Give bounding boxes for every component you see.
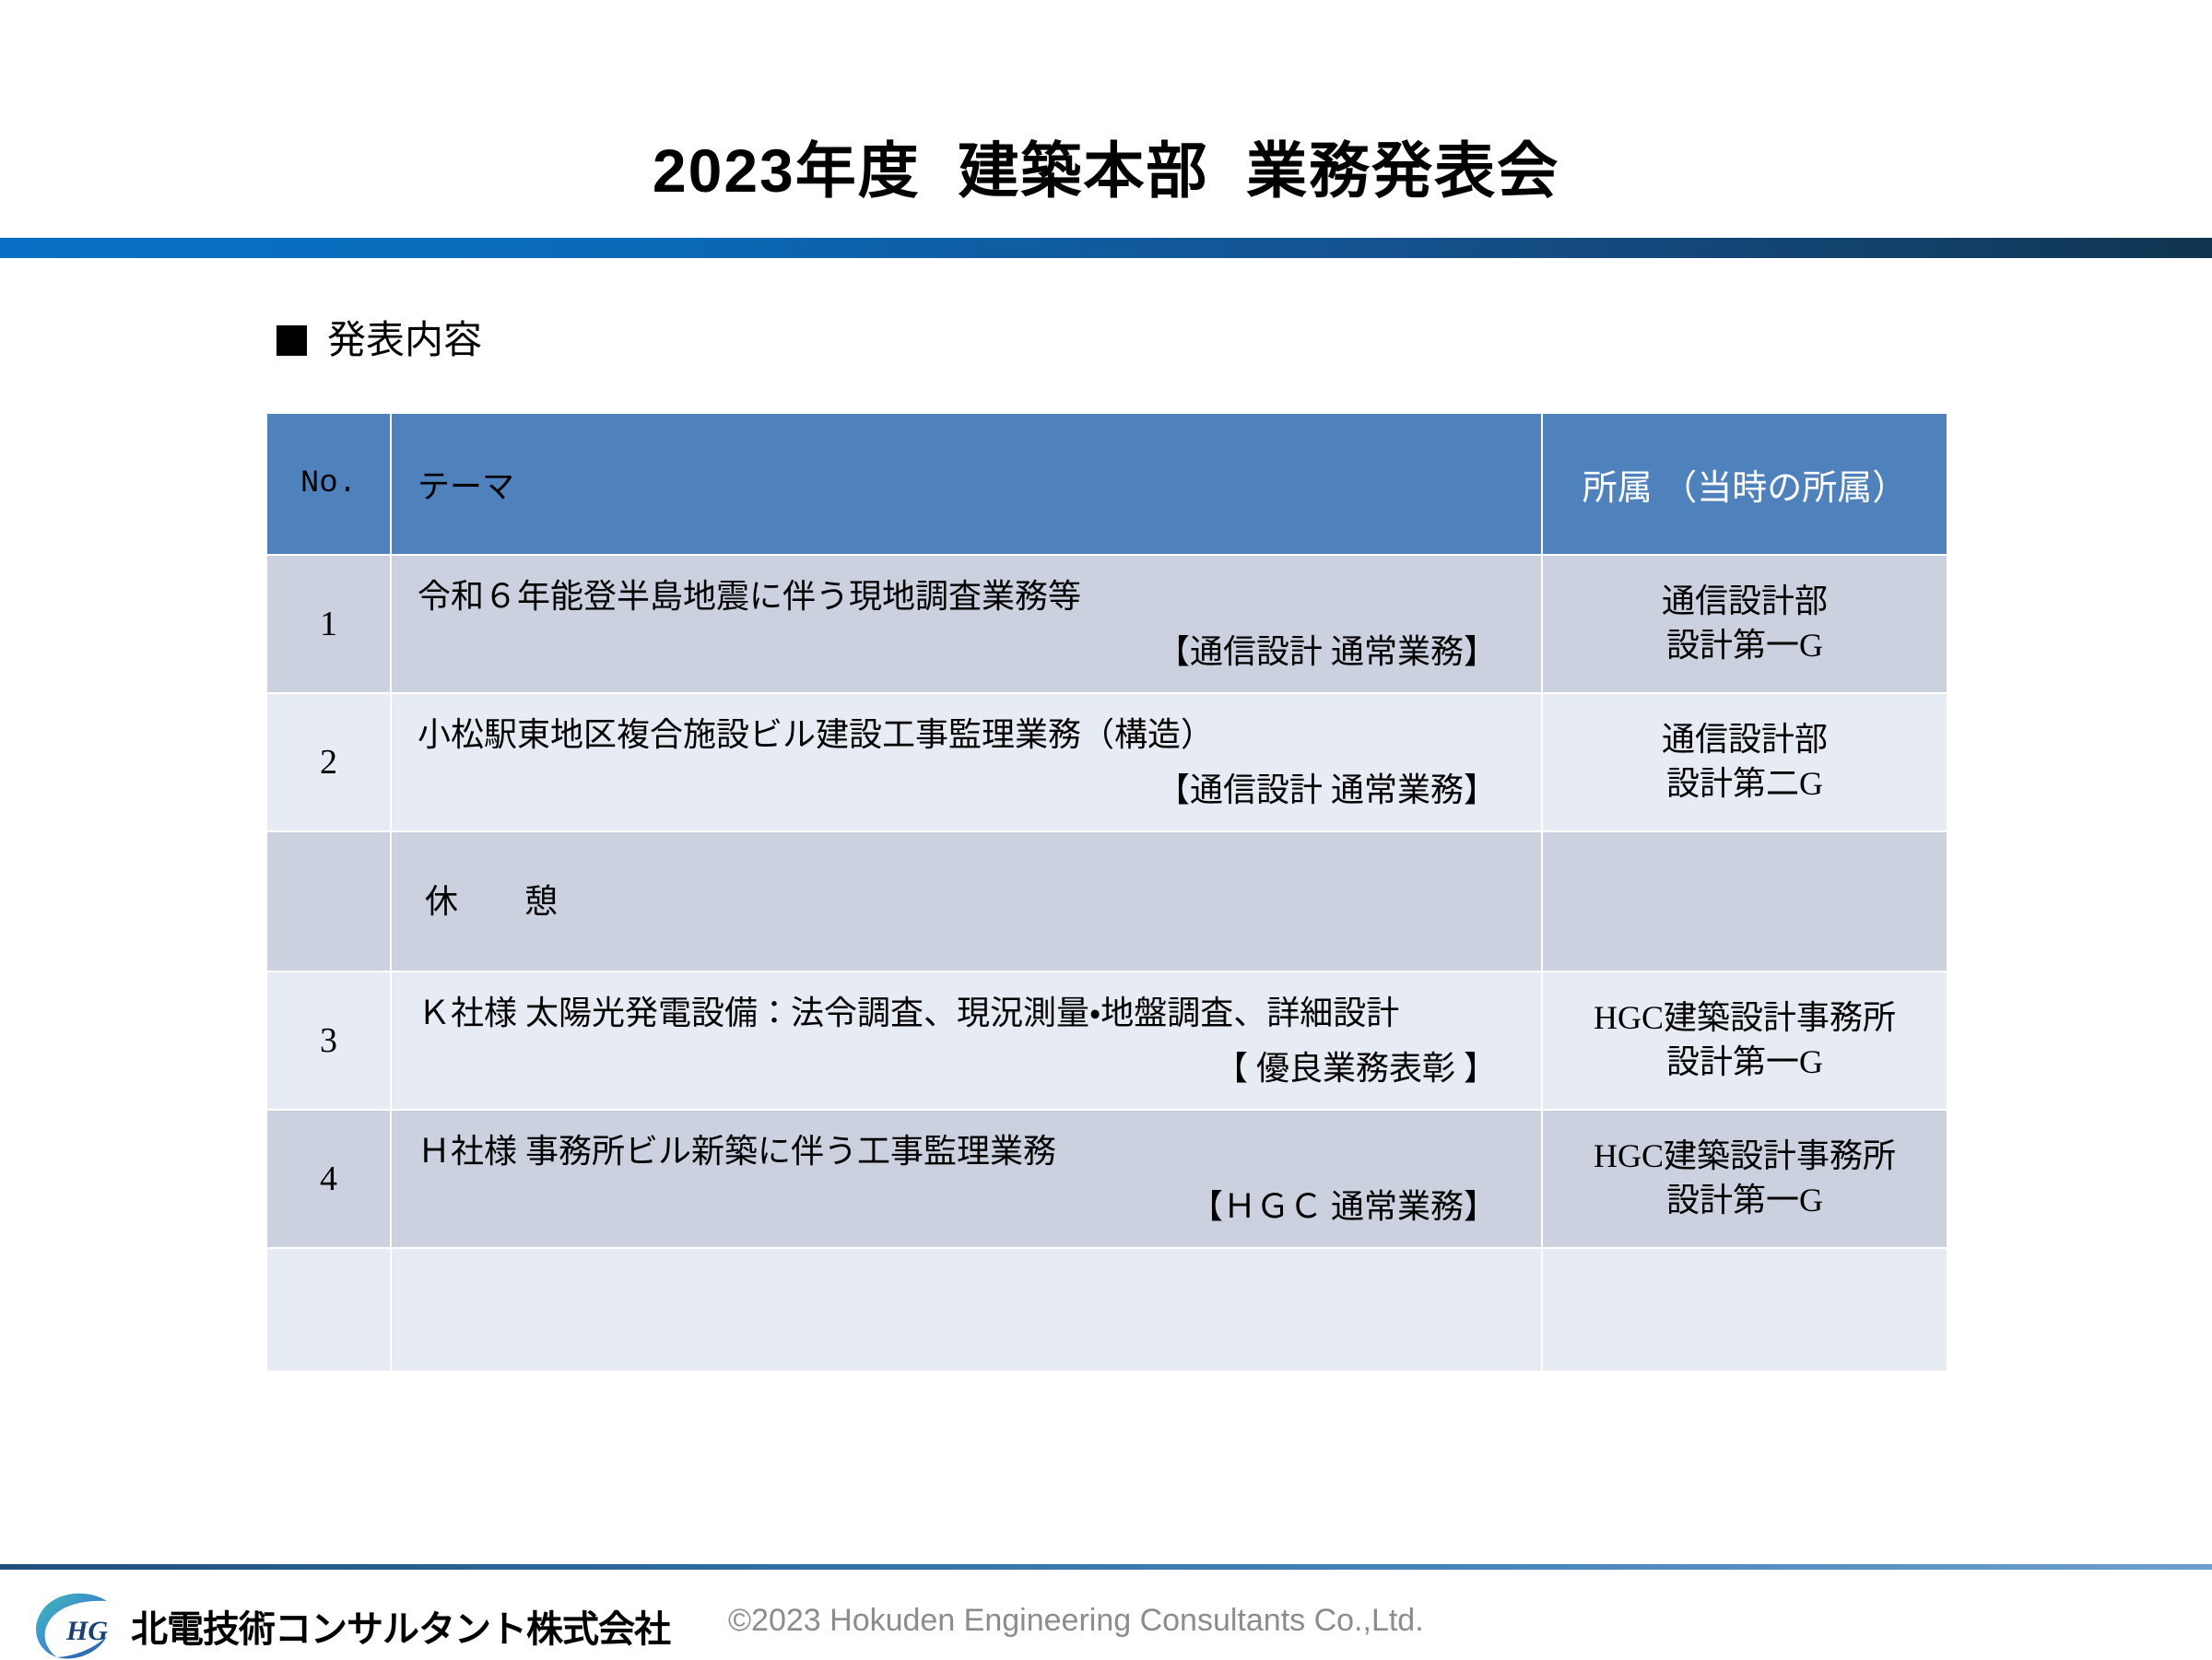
table-row-empty [266,1248,1947,1372]
column-header-no: No. [266,413,391,555]
theme-title: 小松駅東地区複合施設ビル建設工事監理業務（構造） [418,710,1517,759]
table-row: 4 Ｈ社様 事務所ビル新築に伴う工事監理業務 【ＨＧＣ 通常業務】 HGC建築設… [266,1110,1947,1248]
cell-department: HGC建築設計事務所 設計第一G [1542,1110,1947,1248]
cell-theme: 令和６年能登半島地震に伴う現地調査業務等 【通信設計 通常業務】 [391,555,1542,693]
theme-tag: 【通信設計 通常業務】 [418,765,1517,815]
cell-theme: Ｋ社様 太陽光発電設備：法令調査、現況測量・地盤調査、詳細設計 【 優良業務表彰… [391,971,1542,1110]
cell-no: 2 [266,693,391,831]
theme-title: Ｈ社様 事務所ビル新築に伴う工事監理業務 [418,1126,1517,1176]
cell-department [1542,1248,1947,1372]
square-bullet-icon [276,325,307,356]
cell-no: 4 [266,1110,391,1248]
cell-theme: Ｈ社様 事務所ビル新築に伴う工事監理業務 【ＨＧＣ 通常業務】 [391,1110,1542,1248]
cell-department: 通信設計部 設計第二G [1542,693,1947,831]
theme-tag: 【ＨＧＣ 通常業務】 [418,1182,1517,1231]
cell-department: 通信設計部 設計第一G [1542,555,1947,693]
cell-no [266,831,391,971]
table-row-break: 休 憩 [266,831,1947,971]
theme-title: Ｋ社様 太陽光発電設備：法令調査、現況測量・地盤調査、詳細設計 [418,988,1517,1038]
column-header-theme: テーマ [391,413,1542,555]
section-heading: 発表内容 [276,321,482,359]
theme-tag: 【 優良業務表彰 】 [418,1043,1517,1093]
table-row: 1 令和６年能登半島地震に伴う現地調査業務等 【通信設計 通常業務】 通信設計部… [266,555,1947,693]
hg-swoosh-logo-icon: HG [29,1592,118,1660]
cell-theme: 休 憩 [391,831,1542,971]
theme-title: 令和６年能登半島地震に伴う現地調査業務等 [418,571,1517,621]
page-title: 2023年度 建築本部 業務発表会 [0,122,2212,210]
cell-no [266,1248,391,1372]
footer: HG 北電技術コンサルタント株式会社 ©2023 Hokuden Enginee… [0,1570,2212,1659]
cell-theme [391,1248,1542,1372]
agenda-table: No. テーマ 所属 （当時の所属） 1 令和６年能登半島地震に伴う現地調査業務… [265,412,1948,1372]
copyright-text: ©2023 Hokuden Engineering Consultants Co… [728,1603,1424,1639]
cell-no: 1 [266,555,391,693]
logo-monogram-text: HG [65,1616,108,1646]
title-divider-bar [0,238,2212,258]
theme-tag: 【通信設計 通常業務】 [418,627,1517,677]
brand-block: HG 北電技術コンサルタント株式会社 [29,1592,670,1660]
cell-no: 3 [266,971,391,1110]
break-label: 休 憩 [418,877,1517,926]
table-row: 3 Ｋ社様 太陽光発電設備：法令調査、現況測量・地盤調査、詳細設計 【 優良業務… [266,971,1947,1110]
cell-department [1542,831,1947,971]
cell-department: HGC建築設計事務所 設計第一G [1542,971,1947,1110]
company-name: 北電技術コンサルタント株式会社 [131,1599,670,1653]
table-row: 2 小松駅東地区複合施設ビル建設工事監理業務（構造） 【通信設計 通常業務】 通… [266,693,1947,831]
section-heading-label: 発表内容 [327,321,482,359]
cell-theme: 小松駅東地区複合施設ビル建設工事監理業務（構造） 【通信設計 通常業務】 [391,693,1542,831]
table-header-row: No. テーマ 所属 （当時の所属） [266,413,1947,555]
column-header-department: 所属 （当時の所属） [1542,413,1947,555]
